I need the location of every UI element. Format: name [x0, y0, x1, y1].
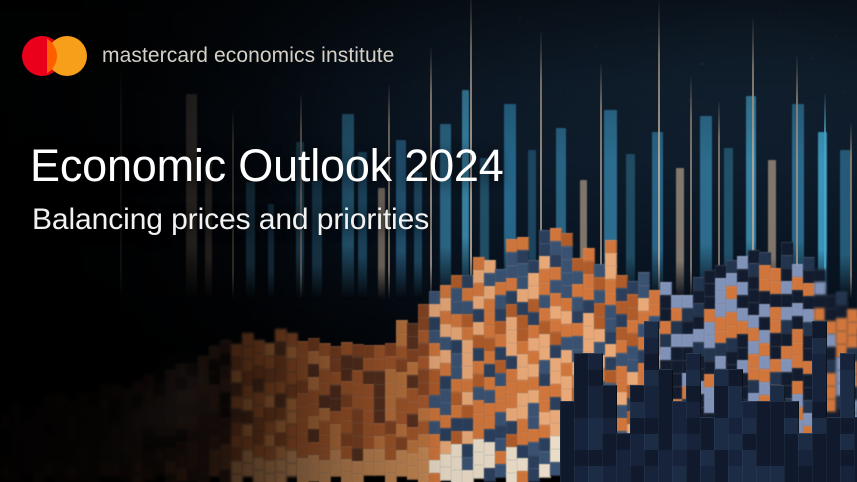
- slide-content: mastercard economics institute Economic …: [0, 0, 857, 482]
- page-subtitle: Balancing prices and priorities: [32, 203, 504, 236]
- logo-overlap-shape: [47, 36, 62, 76]
- brand-lockup: mastercard economics institute: [22, 36, 394, 76]
- headline-block: Economic Outlook 2024 Balancing prices a…: [30, 142, 504, 236]
- brand-wordmark: mastercard economics institute: [102, 44, 394, 68]
- mastercard-logo-icon: [22, 36, 87, 76]
- slide-root: mastercard economics institute Economic …: [0, 0, 857, 482]
- page-title: Economic Outlook 2024: [30, 142, 504, 189]
